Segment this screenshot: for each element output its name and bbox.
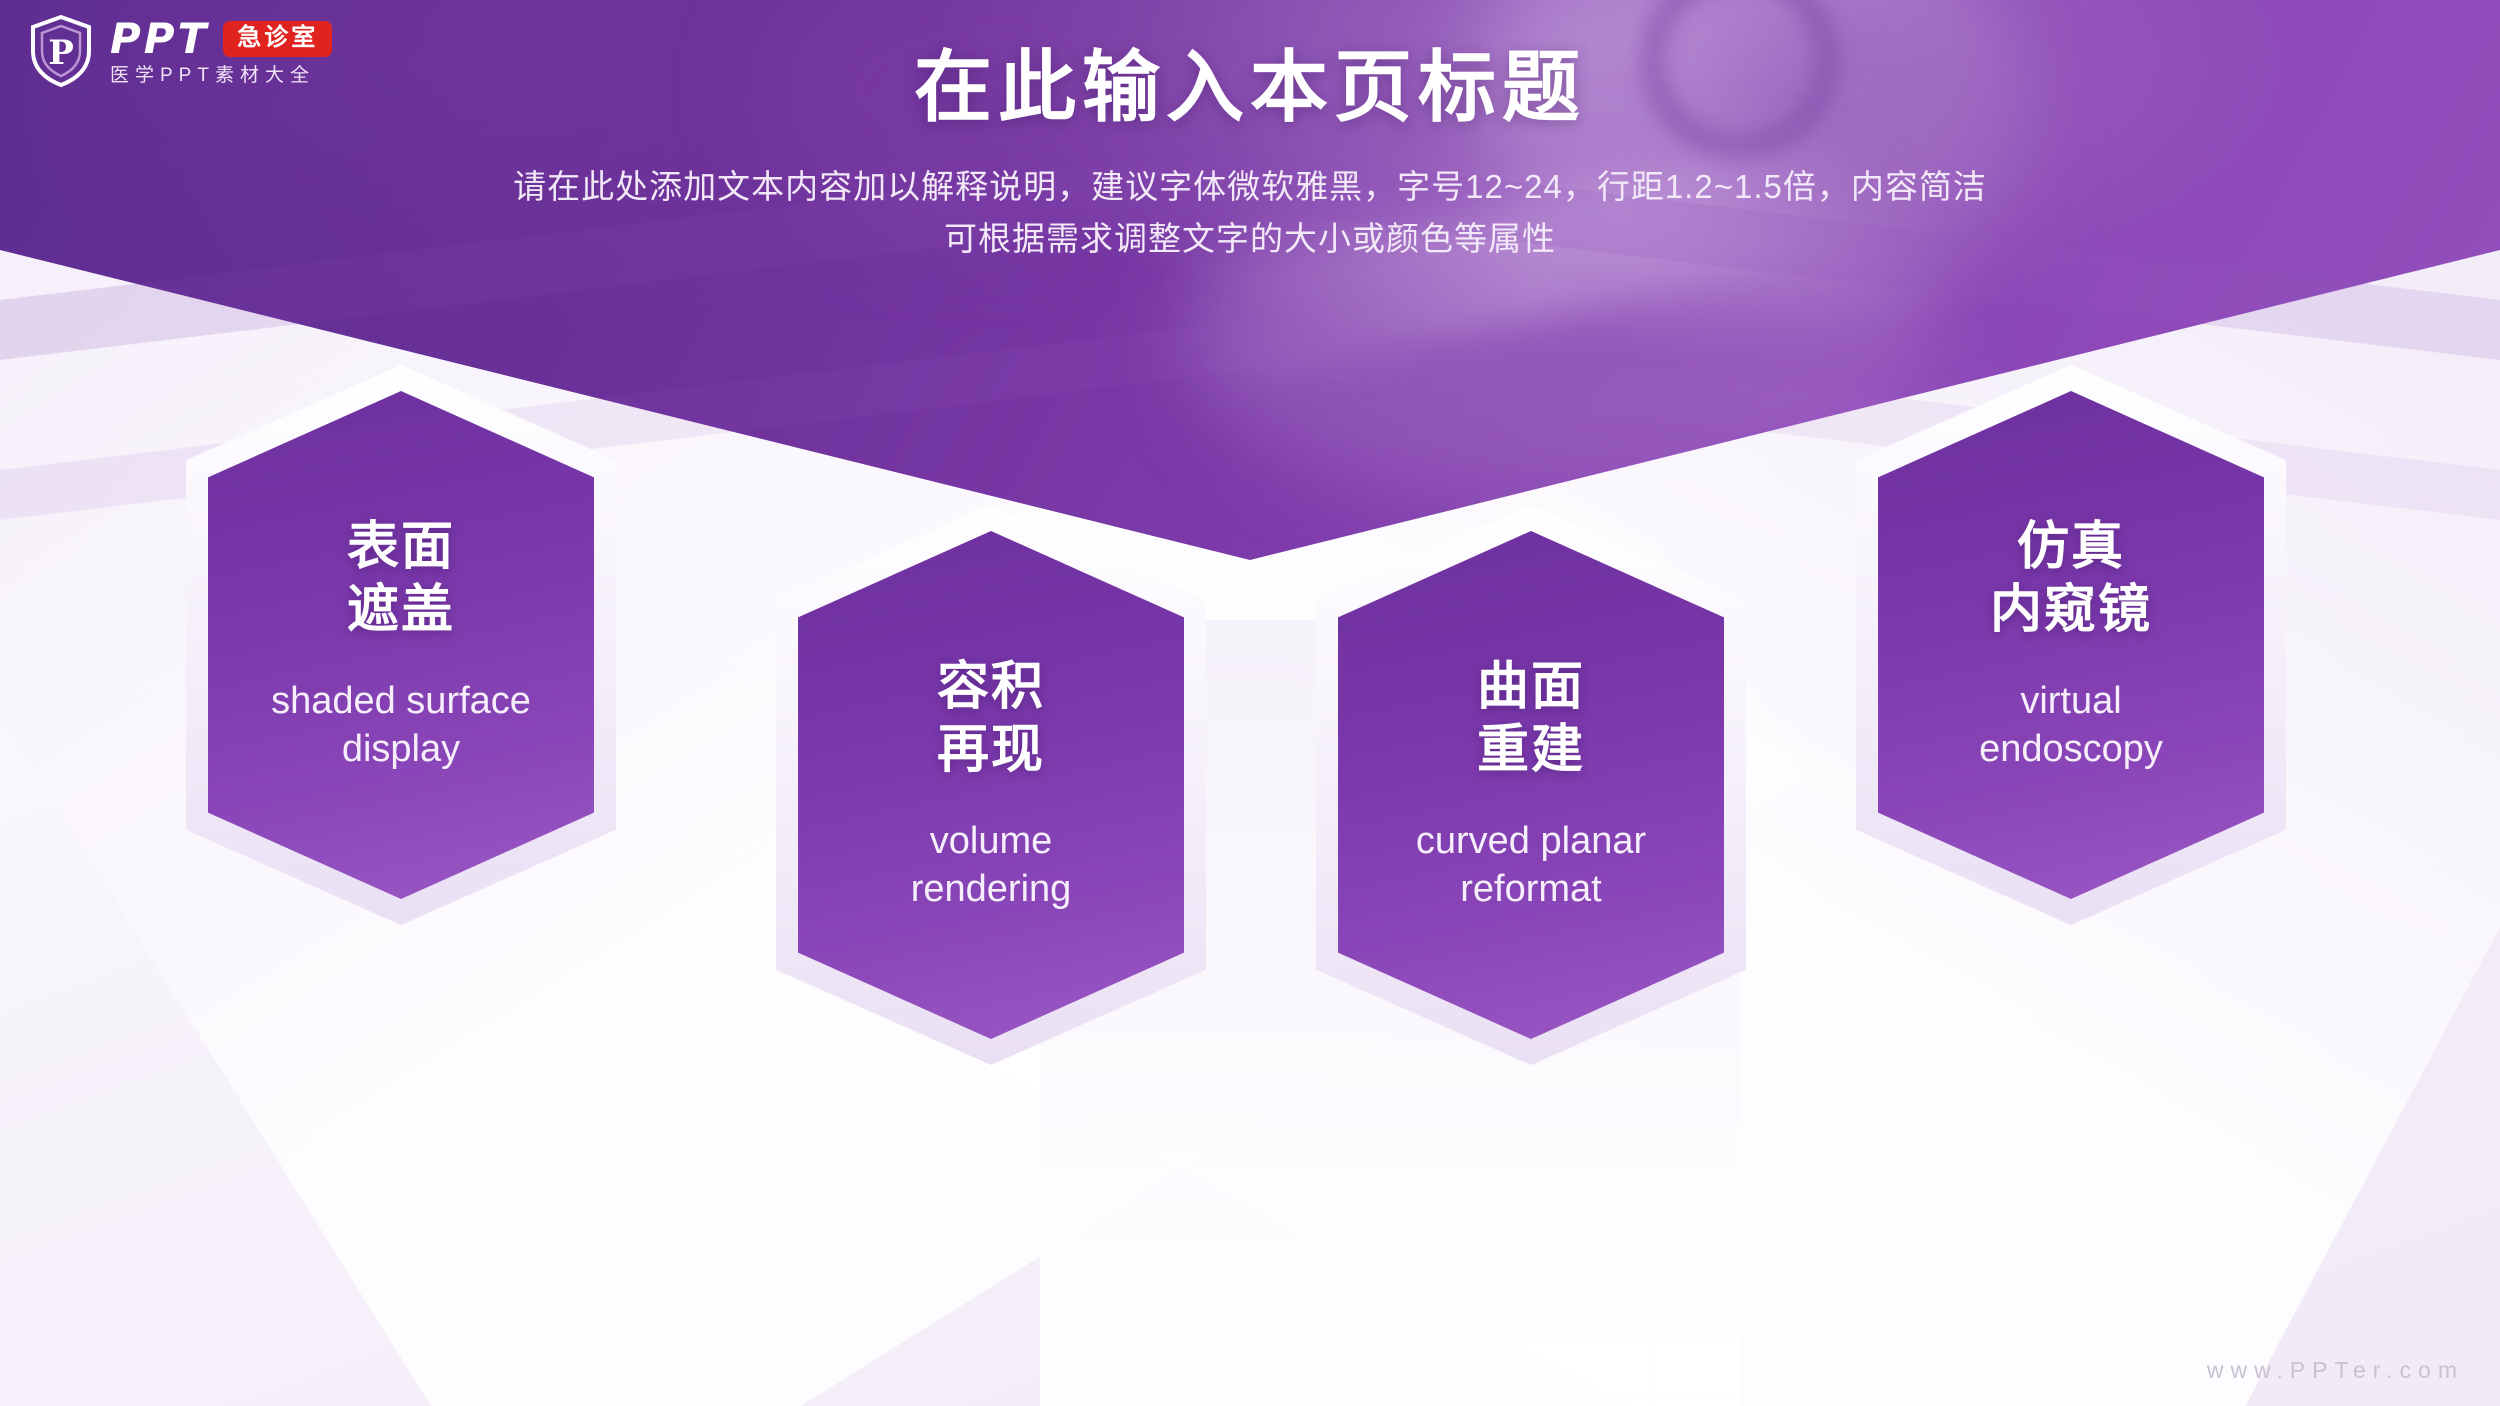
page-title: 在此输入本页标题 — [0, 44, 2500, 131]
hexagon-card-title-cn: 容积 再现 — [937, 656, 1045, 783]
hexagon-card-title-cn-line-1: 容积 — [937, 656, 1045, 719]
svg-text:P: P — [48, 33, 74, 73]
logo-badge: 急诊室 — [223, 21, 332, 57]
hexagon-card-content: 仿真 内窥镜 virtual endoscopy — [1856, 365, 2286, 925]
hexagon-card-title-en-line-2: display — [271, 725, 531, 774]
hexagon-card-title-en-line-1: shaded surface — [271, 677, 531, 726]
hexagon-card-title-cn-line-1: 表面 — [347, 516, 455, 579]
page-subtitle: 请在此处添加文本内容加以解释说明，建议字体微软雅黑，字号12~24，行距1.2~… — [0, 161, 2500, 263]
hexagon-card-content: 表面 遮盖 shaded surface display — [186, 365, 616, 925]
hexagon-card-title-cn-line-2: 遮盖 — [347, 579, 455, 642]
hexagon-card-curved-planar-reformat[interactable]: 曲面 重建 curved planar reformat — [1316, 505, 1746, 1065]
hexagon-card-title-en-line-2: endoscopy — [1979, 725, 2163, 774]
hexagon-card-title-en: shaded surface display — [271, 677, 531, 774]
hexagon-card-virtual-endoscopy[interactable]: 仿真 内窥镜 virtual endoscopy — [1856, 365, 2286, 925]
hexagon-card-title-en: curved planar reformat — [1416, 817, 1646, 914]
page-subtitle-line-1: 请在此处添加文本内容加以解释说明，建议字体微软雅黑，字号12~24，行距1.2~… — [0, 161, 2500, 212]
brand-logo[interactable]: P PPT 急诊室 医学PPT素材大全 — [28, 14, 332, 88]
hexagon-card-content: 容积 再现 volume rendering — [776, 505, 1206, 1065]
hexagon-card-volume-rendering[interactable]: 容积 再现 volume rendering — [776, 505, 1206, 1065]
hexagon-card-title-cn-line-2: 重建 — [1477, 719, 1585, 782]
hexagon-card-content: 曲面 重建 curved planar reformat — [1316, 505, 1746, 1065]
hexagon-card-title-en-line-1: volume — [911, 817, 1072, 866]
hexagon-card-title-cn-line-1: 曲面 — [1477, 656, 1585, 719]
header-text-block: 在此输入本页标题 请在此处添加文本内容加以解释说明，建议字体微软雅黑，字号12~… — [0, 44, 2500, 264]
hexagon-card-title-en: volume rendering — [911, 817, 1072, 914]
footer-watermark: www.PPTer.com — [2207, 1357, 2464, 1384]
hexagon-card-title-cn-line-2: 内窥镜 — [1990, 579, 2152, 642]
logo-text-block: PPT 急诊室 医学PPT素材大全 — [110, 18, 332, 85]
hexagon-card-title-cn: 曲面 重建 — [1477, 656, 1585, 783]
hexagon-card-title-cn: 仿真 内窥镜 — [1990, 516, 2152, 643]
shield-p-icon: P — [28, 14, 94, 88]
hexagon-card-title-en-line-1: curved planar — [1416, 817, 1646, 866]
hexagon-card-title-en-line-2: rendering — [911, 865, 1072, 914]
hexagon-card-title-en-line-2: reformat — [1416, 865, 1646, 914]
logo-tagline: 医学PPT素材大全 — [110, 66, 332, 85]
logo-brand-text: PPT — [110, 18, 209, 60]
hexagon-card-shaded-surface-display[interactable]: 表面 遮盖 shaded surface display — [186, 365, 616, 925]
hexagon-card-title-cn-line-1: 仿真 — [1990, 516, 2152, 579]
hexagon-card-title-en-line-1: virtual — [1979, 677, 2163, 726]
hexagon-card-title-cn: 表面 遮盖 — [347, 516, 455, 643]
hexagon-card-title-en: virtual endoscopy — [1979, 677, 2163, 774]
hexagon-card-title-cn-line-2: 再现 — [937, 719, 1045, 782]
page-subtitle-line-2: 可根据需求调整文字的大小或颜色等属性 — [0, 213, 2500, 264]
slide-canvas: P PPT 急诊室 医学PPT素材大全 在此输入本页标题 请在此处添加文本内容加… — [0, 0, 2500, 1406]
logo-primary-line: PPT 急诊室 — [110, 18, 332, 60]
